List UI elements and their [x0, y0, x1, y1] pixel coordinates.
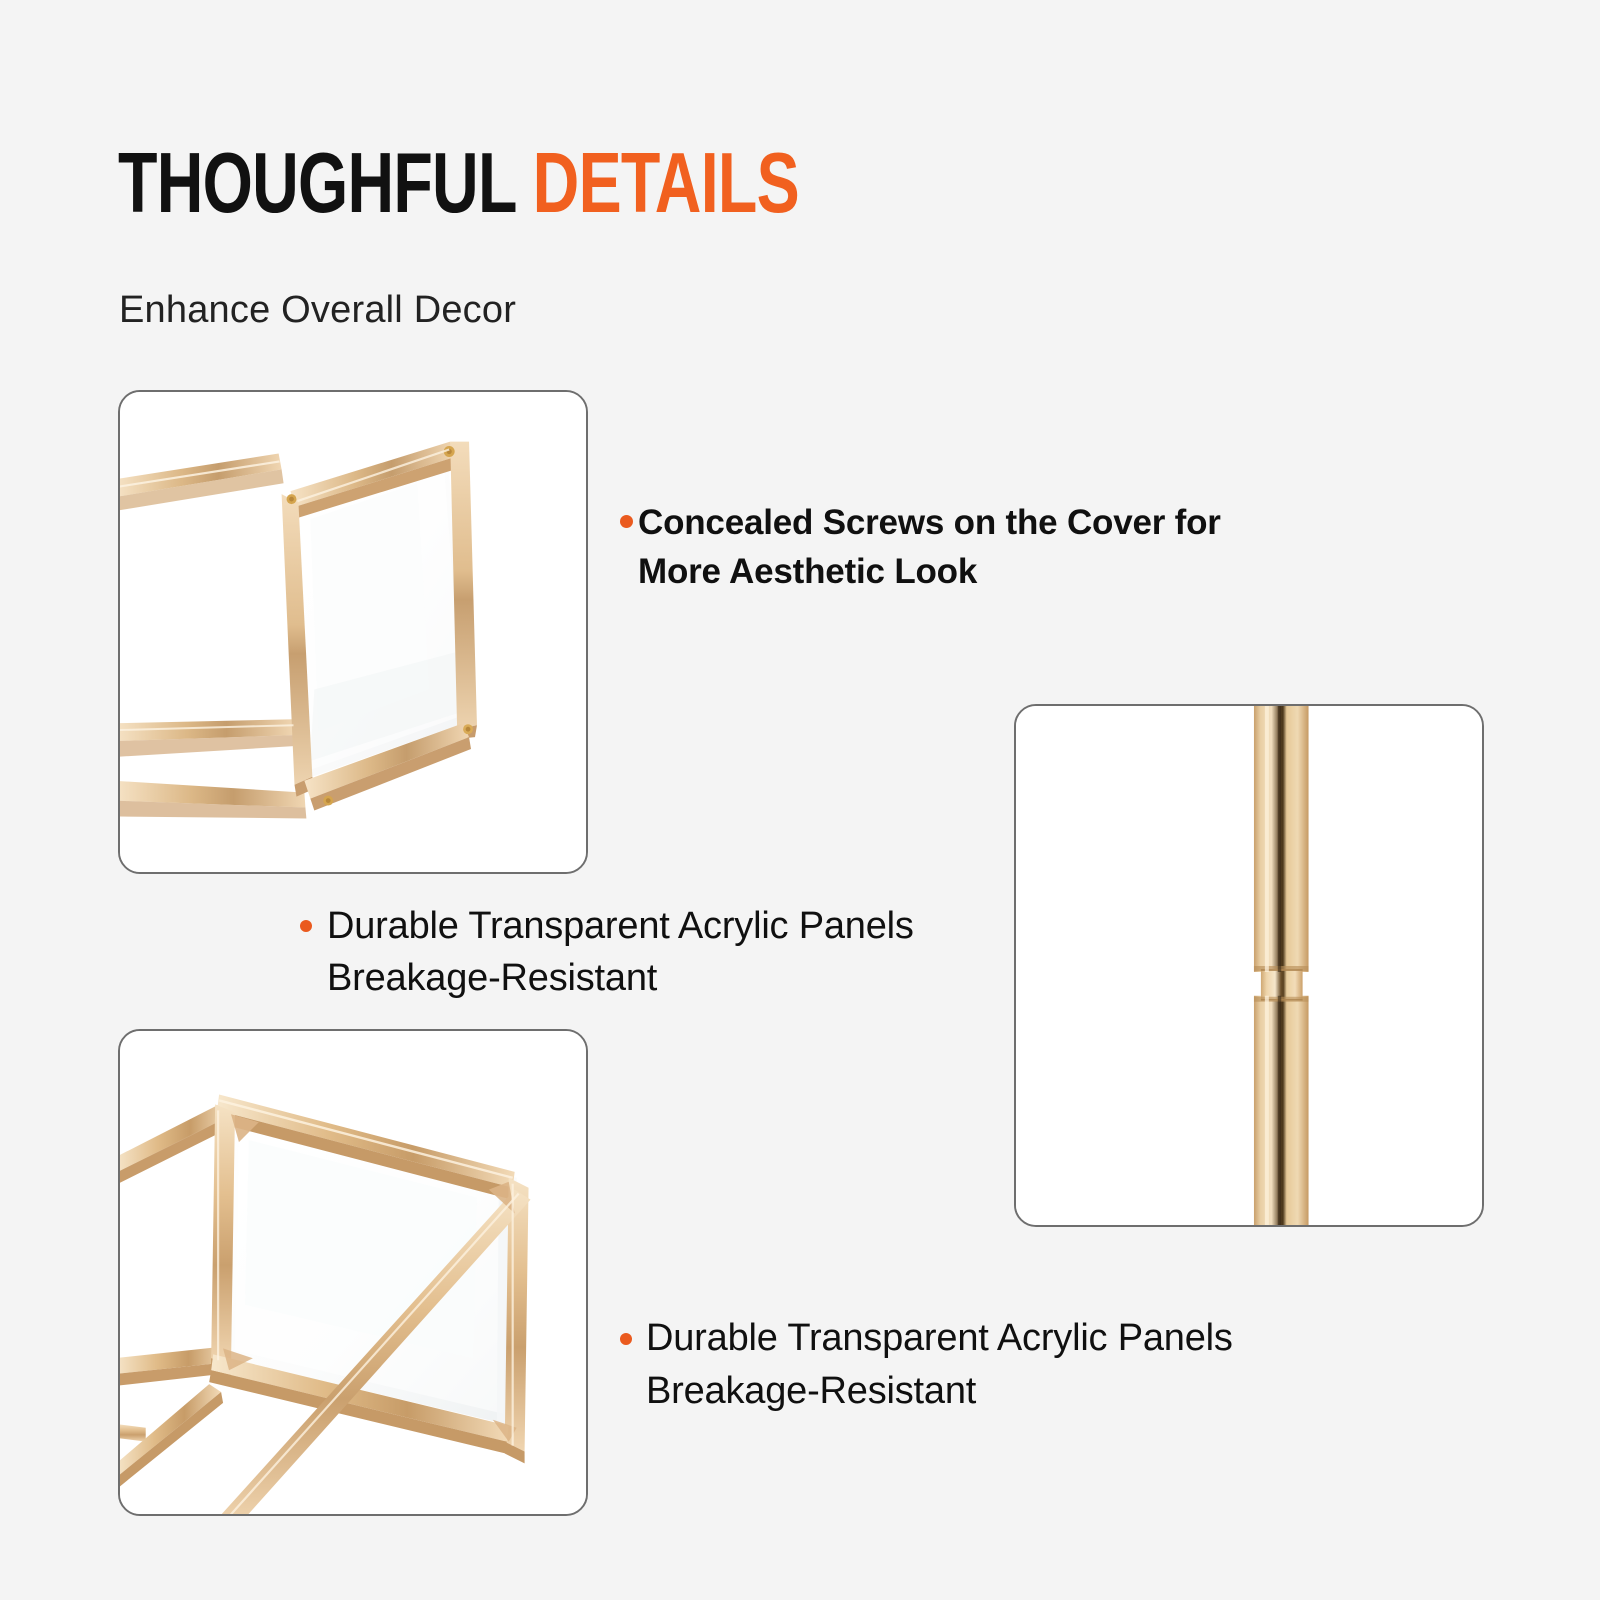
acrylic-panel-corner-photo — [118, 390, 588, 874]
page-title: THOUGHFUL DETAILS — [118, 141, 799, 226]
acrylic-panel-corner-illustration — [120, 392, 586, 872]
page-title-primary: THOUGHFUL — [118, 136, 515, 231]
feature-bullet-1-line-2: More Aesthetic Look — [638, 547, 1221, 596]
page-subtitle: Enhance Overall Decor — [119, 288, 516, 334]
cube-frame-cross-brace-photo — [118, 1029, 588, 1516]
detail-page: THOUGHFUL DETAILS Enhance Overall Decor — [0, 0, 1600, 1600]
feature-bullet-1-line-1: Concealed Screws on the Cover for — [638, 498, 1221, 547]
feature-bullet-3: Durable Transparent Acrylic Panels Break… — [620, 1312, 1320, 1418]
feature-bullet-2: Durable Transparent Acrylic Panels Break… — [300, 900, 1000, 1004]
bullet-dot-icon — [620, 1333, 632, 1345]
page-title-accent: DETAILS — [533, 136, 799, 231]
gold-pole-joint-illustration — [1016, 706, 1482, 1225]
feature-bullet-2-text: Durable Transparent Acrylic Panels Break… — [327, 900, 914, 1004]
bullet-dot-icon — [300, 920, 312, 932]
feature-bullet-1-text: Concealed Screws on the Cover for More A… — [638, 498, 1221, 596]
feature-bullet-3-line-1: Durable Transparent Acrylic Panels — [646, 1312, 1233, 1365]
gold-pole-joint-photo — [1014, 704, 1484, 1227]
feature-bullet-3-line-2: Breakage-Resistant — [646, 1365, 1233, 1418]
feature-bullet-3-text: Durable Transparent Acrylic Panels Break… — [646, 1312, 1233, 1418]
feature-bullet-1: Concealed Screws on the Cover for More A… — [620, 498, 1280, 596]
cube-frame-cross-brace-illustration — [120, 1031, 586, 1514]
feature-bullet-2-line-1: Durable Transparent Acrylic Panels — [327, 900, 914, 952]
feature-bullet-2-line-2: Breakage-Resistant — [327, 952, 914, 1004]
bullet-dot-icon — [620, 515, 633, 528]
